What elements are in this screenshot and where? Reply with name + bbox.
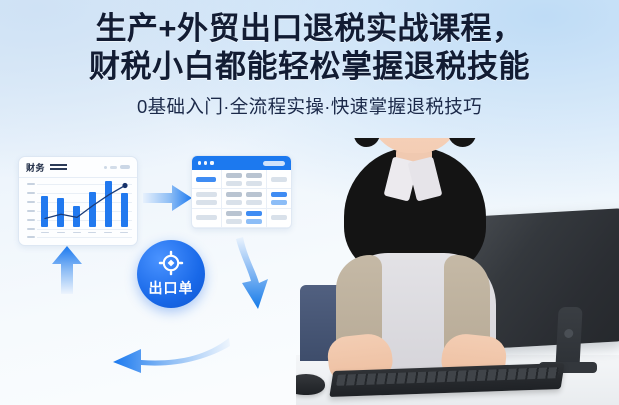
- target-icon: [158, 250, 184, 276]
- table-cell: [267, 209, 291, 228]
- arrow-left-icon: [103, 332, 231, 374]
- table-cell: [267, 189, 291, 208]
- arrow-down-icon: [233, 235, 283, 313]
- chart-x-axis: [37, 229, 132, 236]
- table-cell: [267, 170, 291, 189]
- chart-plot-area: [27, 181, 132, 236]
- export-doc-badge[interactable]: 出口单: [137, 240, 205, 308]
- person-accountant: [330, 141, 502, 373]
- finance-chart-card: 财务: [18, 156, 138, 246]
- table-cell: [192, 170, 222, 189]
- infographic: 财务: [0, 140, 320, 405]
- table-cell: [222, 170, 267, 189]
- computer-mouse: [296, 374, 325, 395]
- tax-table-card: [191, 155, 292, 229]
- face: [370, 138, 460, 153]
- illustration-scene: [296, 138, 619, 405]
- table-card-grid: [192, 170, 291, 228]
- menu-lines-icon: [50, 164, 67, 169]
- page-title-line1: 生产+外贸出口退税实战课程，: [0, 10, 619, 48]
- table-cell: [222, 209, 267, 228]
- chart-card-title: 财务: [26, 161, 45, 174]
- table-cell: [192, 189, 222, 208]
- export-doc-badge-label: 出口单: [149, 278, 194, 298]
- arrow-right-icon: [142, 182, 194, 214]
- table-cell: [222, 189, 267, 208]
- poster-canvas: 生产+外贸出口退税实战课程， 财税小白都能轻松掌握退税技能 0基础入门·全流程实…: [0, 0, 619, 405]
- chart-card-header: 财务: [19, 157, 137, 178]
- header: 生产+外贸出口退税实战课程， 财税小白都能轻松掌握退税技能 0基础入门·全流程实…: [0, 10, 619, 119]
- window-controls-icon: [104, 165, 130, 169]
- table-cell: [192, 209, 222, 228]
- table-card-titlebar: [192, 156, 291, 170]
- page-title-line2: 财税小白都能轻松掌握退税技能: [0, 48, 619, 86]
- arrow-up-icon: [50, 244, 84, 296]
- page-subtitle: 0基础入门·全流程实操·快速掌握退税技巧: [0, 95, 619, 119]
- chart-y-axis: [27, 181, 36, 236]
